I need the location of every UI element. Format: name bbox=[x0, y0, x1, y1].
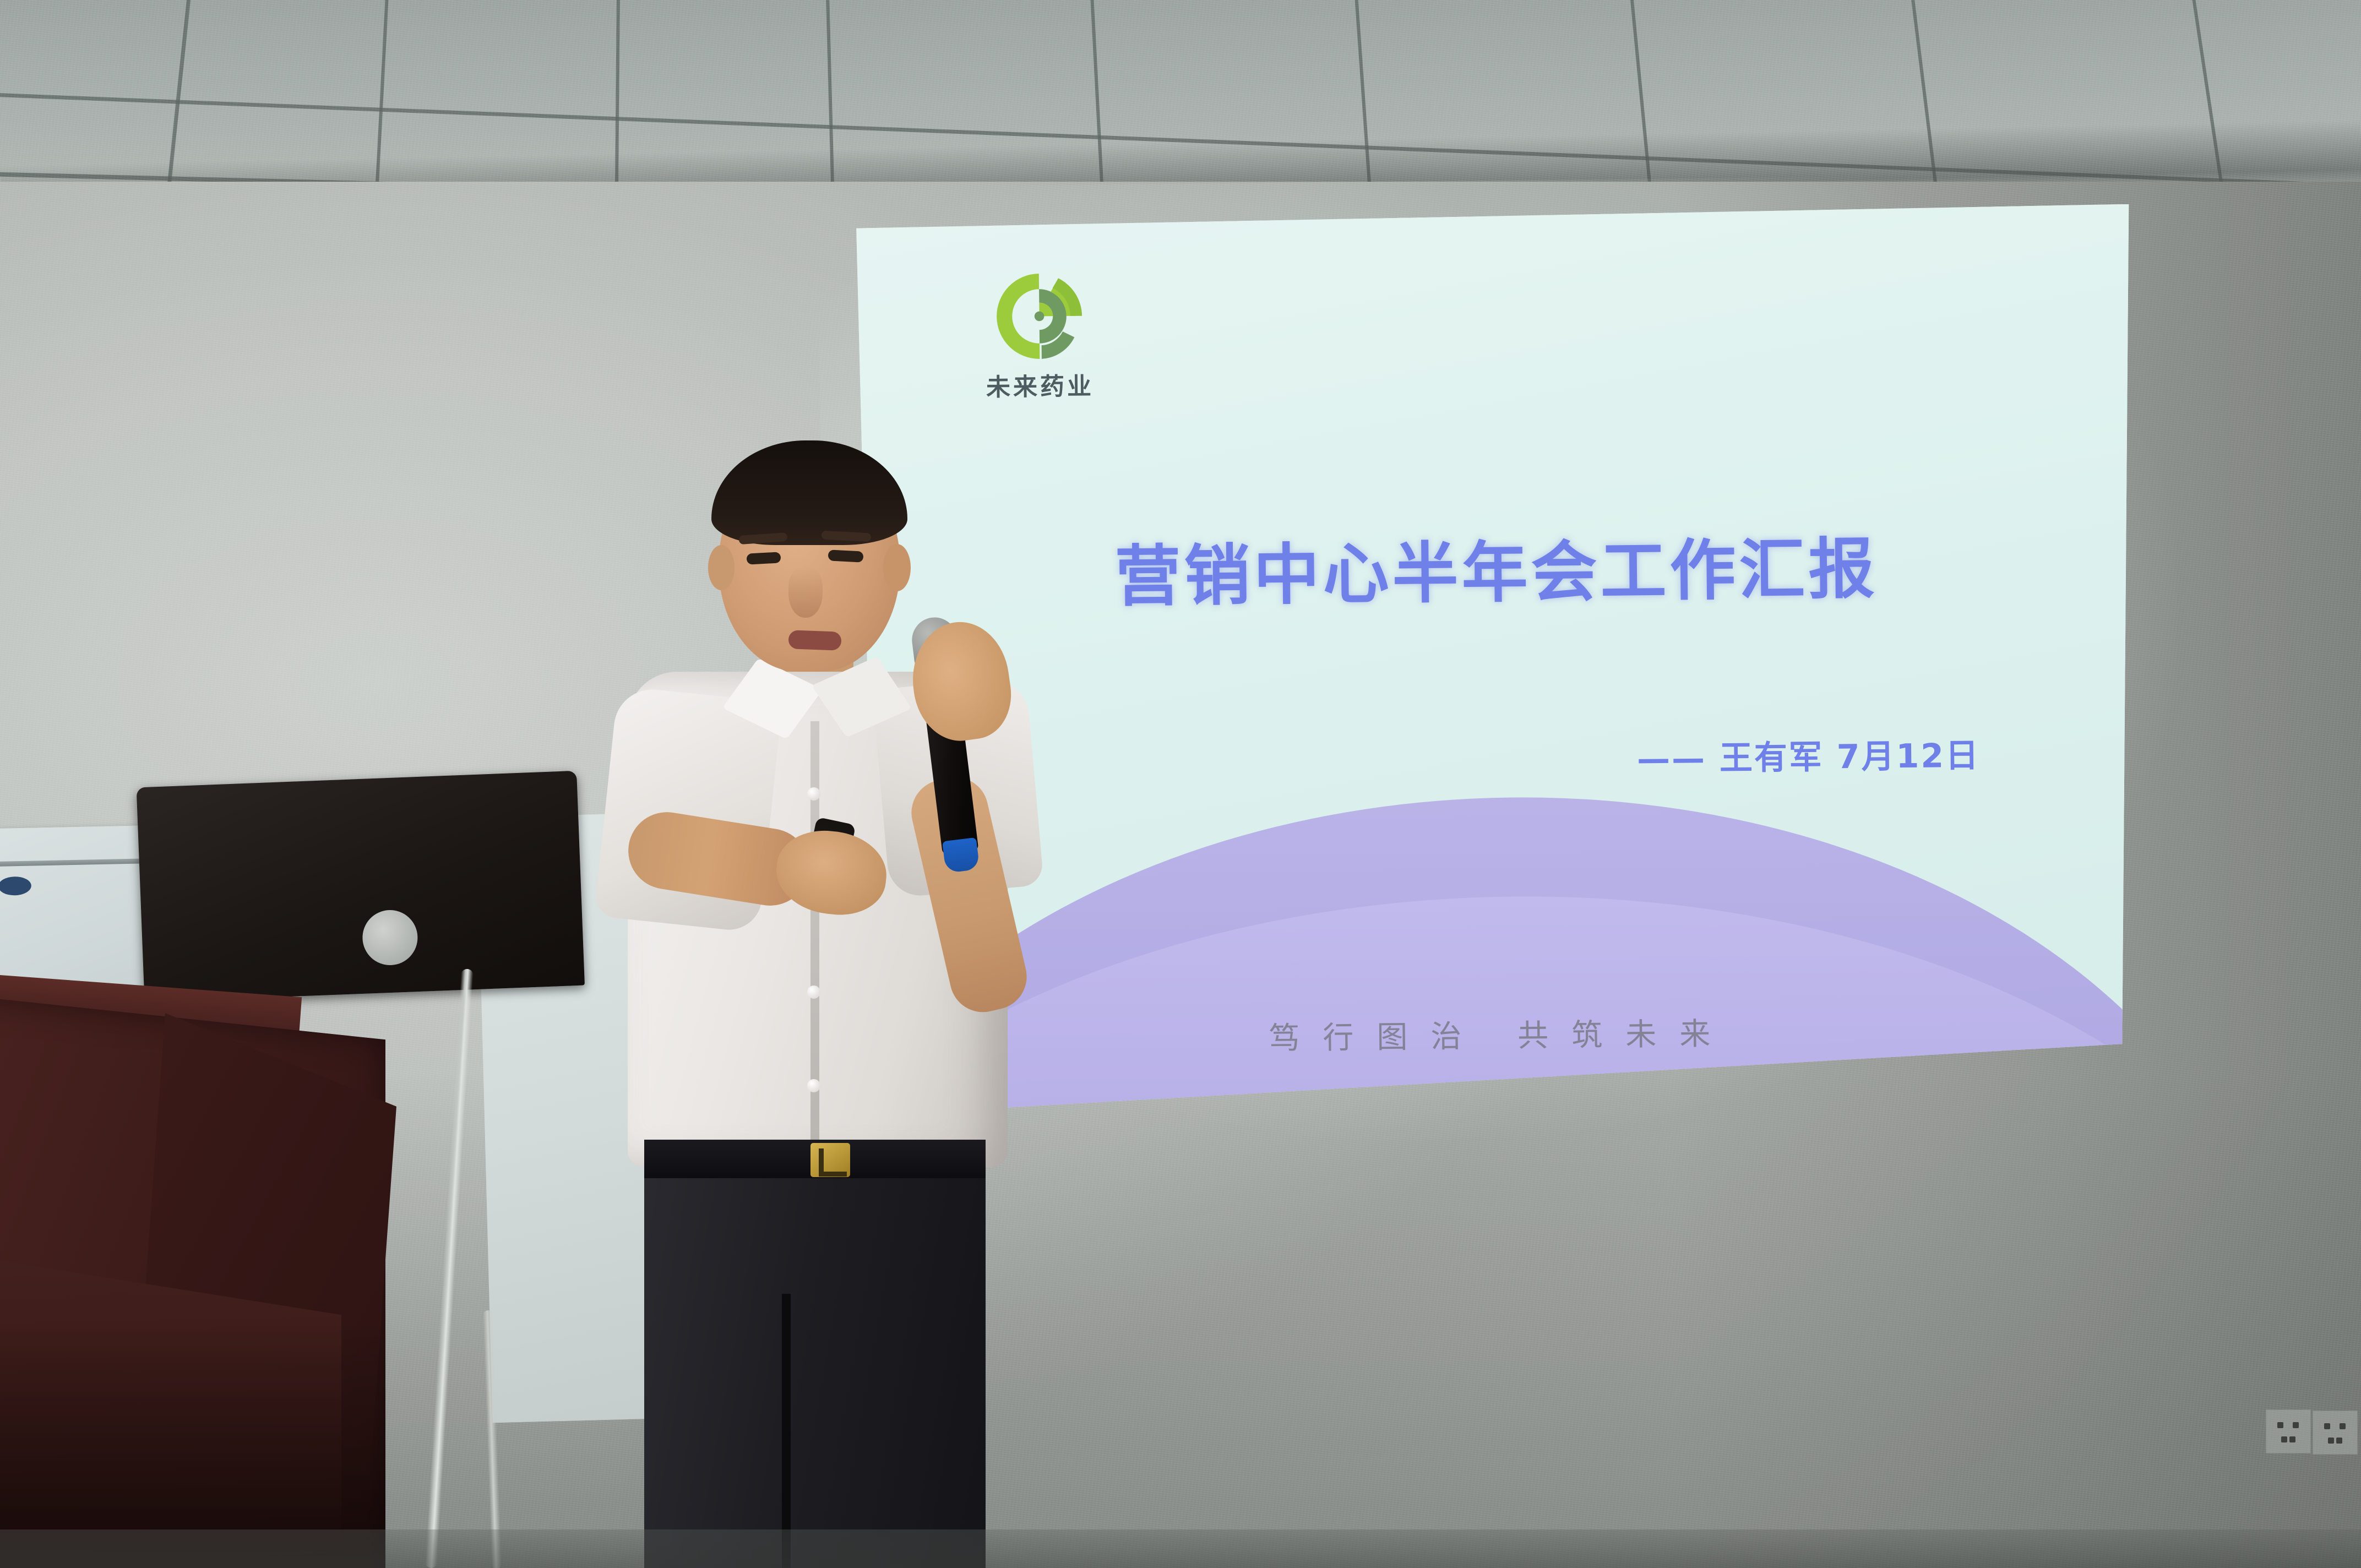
spiral-logo-icon bbox=[991, 268, 1089, 366]
nose bbox=[788, 567, 823, 618]
whiteboard-magnet bbox=[0, 876, 31, 896]
shirt-button bbox=[807, 1079, 820, 1092]
shirt-button bbox=[807, 787, 820, 801]
belt-buckle bbox=[810, 1143, 850, 1177]
mouth bbox=[788, 630, 841, 650]
speaker bbox=[595, 435, 1090, 1568]
hair bbox=[711, 440, 907, 545]
presentation-photo-scene: 未来药业 营销中心半年会工作汇报 —— 王有军 7月12日 笃行图治 共筑未来 bbox=[0, 0, 2361, 1568]
floor-shadow bbox=[0, 1529, 2361, 1568]
wall-socket[interactable] bbox=[2313, 1411, 2358, 1455]
eye-right bbox=[828, 549, 864, 562]
eye-left bbox=[747, 552, 781, 564]
company-logo: 未来药业 bbox=[976, 267, 1104, 406]
trouser-leg-seam bbox=[782, 1294, 791, 1568]
wall-socket[interactable] bbox=[2266, 1409, 2311, 1453]
ear-right bbox=[883, 544, 911, 591]
trousers bbox=[644, 1151, 986, 1568]
shirt-button bbox=[807, 986, 820, 999]
microphone-end-cap bbox=[942, 837, 980, 873]
ear-left bbox=[708, 545, 735, 590]
laptop-lid bbox=[137, 771, 585, 1002]
logo-company-name: 未来药业 bbox=[977, 366, 1104, 402]
slide-presenter-and-date: —— 王有军 7月12日 bbox=[1637, 729, 1981, 781]
laptop[interactable] bbox=[137, 771, 585, 1008]
